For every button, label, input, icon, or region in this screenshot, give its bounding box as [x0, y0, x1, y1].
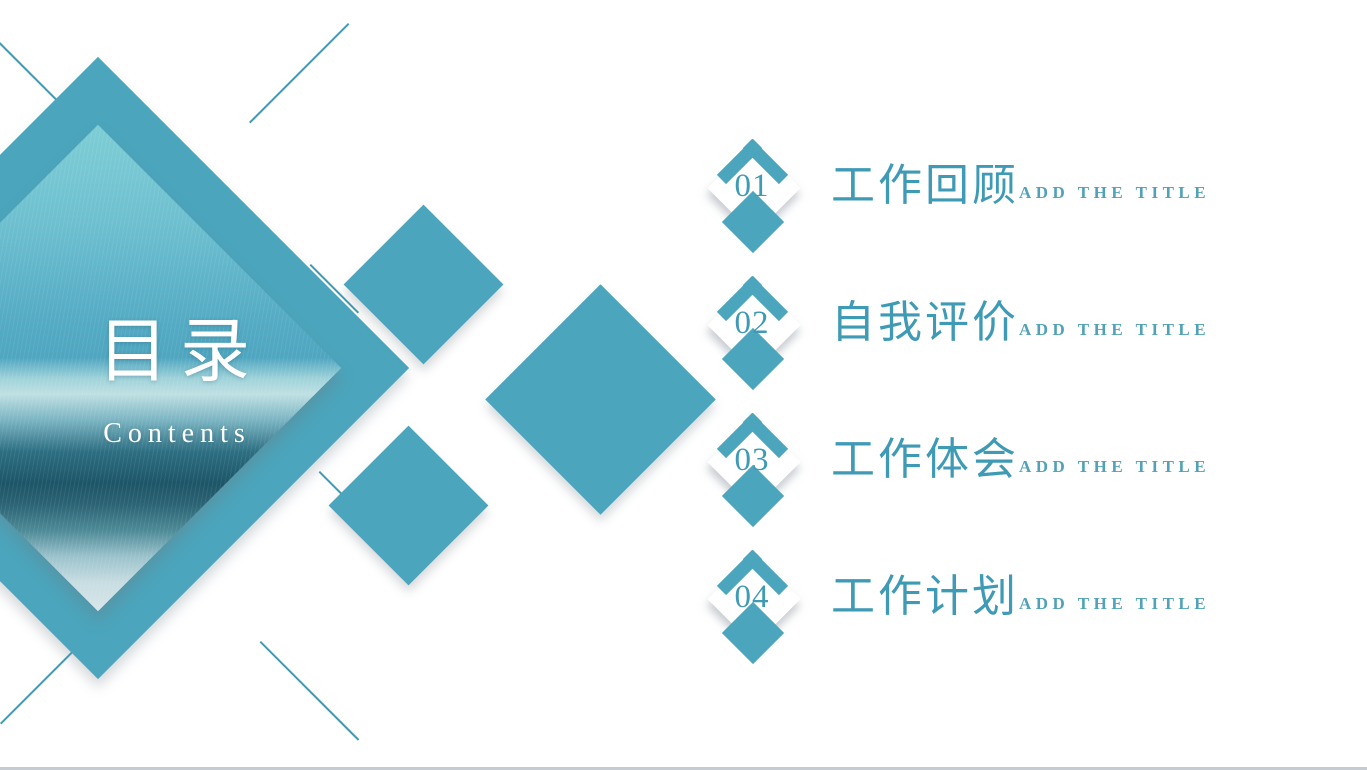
- toc-item-text: 工作回顾ADD THE TITLE: [831, 164, 1210, 208]
- toc-item-number: 03: [706, 442, 798, 479]
- diamond-badge-icon: 02: [706, 275, 798, 393]
- toc-item-subtitle: ADD THE TITLE: [1019, 320, 1210, 339]
- diamond-badge-icon: 01: [706, 138, 798, 256]
- toc-item-title: 工作计划: [831, 572, 1019, 621]
- accent-diamond-small-bottom: [329, 426, 489, 586]
- presentation-slide: 目录 Contents 01 工作回顾ADD THE TITLE: [0, 0, 1367, 770]
- toc-item-subtitle: ADD THE TITLE: [1019, 594, 1210, 613]
- diamond-badge-icon: 04: [706, 549, 798, 667]
- toc-item-title: 自我评价: [831, 298, 1019, 347]
- toc-item-text: 工作计划ADD THE TITLE: [831, 575, 1210, 619]
- toc-item-subtitle: ADD THE TITLE: [1019, 183, 1210, 202]
- toc-item-number: 01: [706, 168, 798, 205]
- toc-item-title: 工作回顾: [831, 161, 1019, 210]
- accent-diamond-large: [485, 284, 716, 515]
- seascape-photo: [0, 125, 341, 611]
- toc-item-03[interactable]: 03 工作体会ADD THE TITLE: [706, 412, 1346, 549]
- seascape-photo-diamond: [0, 125, 341, 611]
- diamond-badge-icon: 03: [706, 412, 798, 530]
- cover-artwork: 目录 Contents: [0, 0, 660, 770]
- toc-item-text: 自我评价ADD THE TITLE: [831, 301, 1210, 345]
- toc-item-number: 02: [706, 305, 798, 342]
- toc-item-number: 04: [706, 579, 798, 616]
- toc-item-subtitle: ADD THE TITLE: [1019, 457, 1210, 476]
- table-of-contents-list: 01 工作回顾ADD THE TITLE 02 自我评价ADD THE TITL…: [706, 138, 1346, 686]
- toc-item-04[interactable]: 04 工作计划ADD THE TITLE: [706, 549, 1346, 686]
- toc-item-01[interactable]: 01 工作回顾ADD THE TITLE: [706, 138, 1346, 275]
- toc-item-02[interactable]: 02 自我评价ADD THE TITLE: [706, 275, 1346, 412]
- toc-item-title: 工作体会: [831, 435, 1019, 484]
- toc-item-text: 工作体会ADD THE TITLE: [831, 438, 1210, 482]
